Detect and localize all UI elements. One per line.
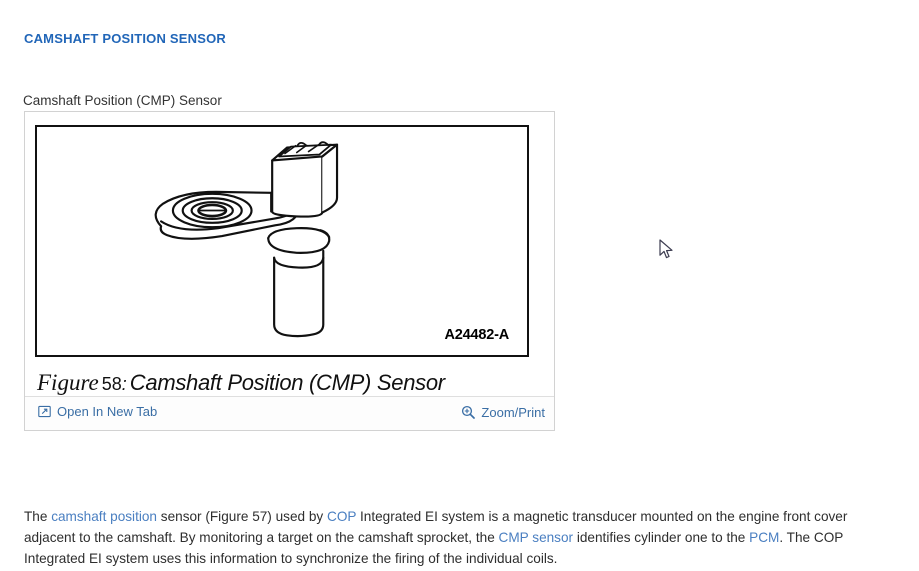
paragraph-text: identifies cylinder one to the — [573, 530, 749, 545]
inline-link[interactable]: COP — [327, 509, 356, 524]
mouse-cursor — [659, 239, 675, 261]
paragraph-text: sensor (Figure 57) used by — [157, 509, 327, 524]
figure-label: Camshaft Position (CMP) Sensor — [23, 93, 222, 108]
figure-toolbar: Open In New Tab Zoom/Print — [25, 396, 554, 430]
figure-caption: Figure58:Camshaft Position (CMP) Sensor — [37, 370, 445, 396]
drawing-frame[interactable]: A24482-A — [35, 125, 529, 357]
zoom-print-button[interactable]: Zoom/Print — [461, 405, 545, 419]
zoom-print-label: Zoom/Print — [481, 406, 545, 419]
drawing-part-number: A24482-A — [445, 327, 510, 343]
open-in-new-tab-icon — [38, 405, 51, 418]
page-title: CAMSHAFT POSITION SENSOR — [24, 31, 226, 46]
figure-caption-colon: : — [122, 374, 130, 394]
open-in-new-tab-button[interactable]: Open In New Tab — [38, 405, 157, 418]
paragraph-text: The — [24, 509, 51, 524]
figure-caption-number: 58 — [99, 374, 122, 394]
inline-link[interactable]: CMP sensor — [499, 530, 574, 545]
camshaft-position-sensor-drawing — [37, 127, 527, 355]
magnifier-plus-icon — [461, 405, 475, 419]
inline-link[interactable]: PCM — [749, 530, 779, 545]
body-paragraph: The camshaft position sensor (Figure 57)… — [24, 506, 886, 569]
figure-caption-title: Camshaft Position (CMP) Sensor — [130, 370, 445, 395]
figure-caption-prefix: Figure — [37, 370, 99, 395]
figure-panel: A24482-A Figure58:Camshaft Position (CMP… — [24, 111, 555, 431]
inline-link[interactable]: camshaft position — [51, 509, 157, 524]
open-in-new-tab-label: Open In New Tab — [57, 405, 157, 418]
